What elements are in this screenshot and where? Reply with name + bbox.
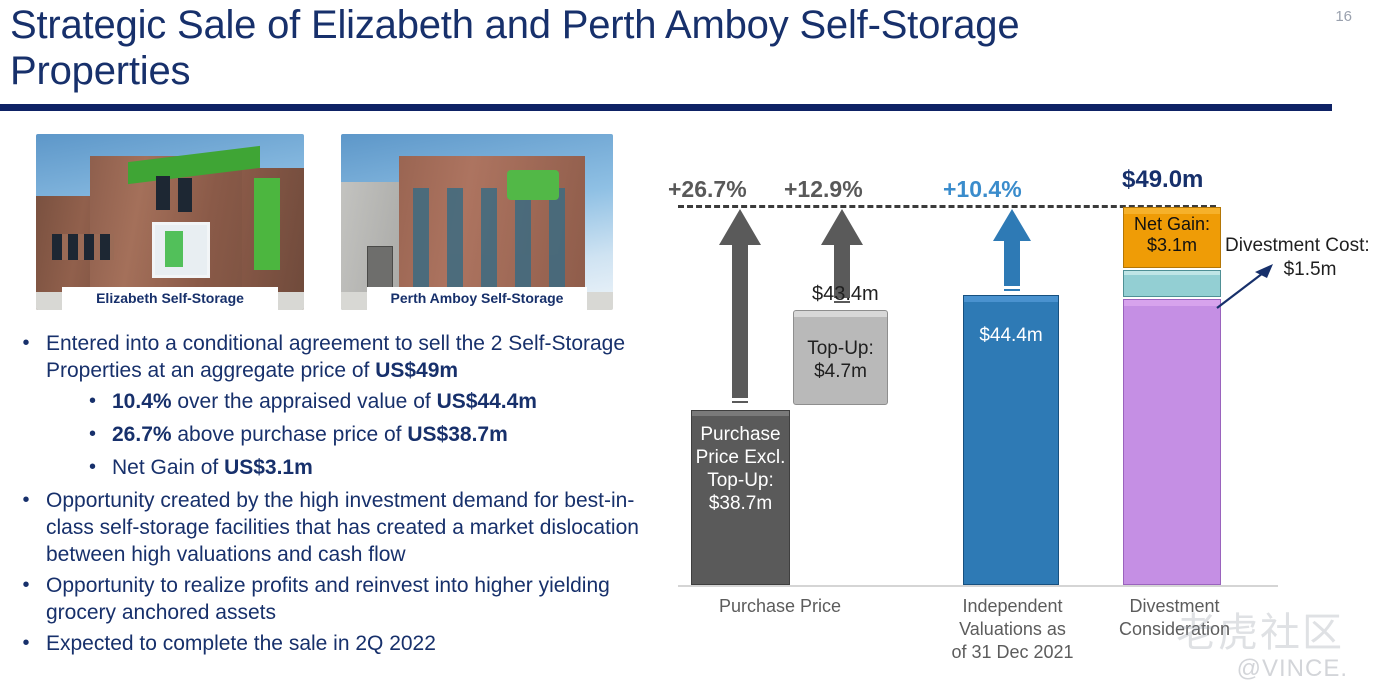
annotation-total-consideration: $49.0m: [1122, 166, 1203, 194]
window-pane: [165, 231, 183, 267]
annotation-pct-vs-valuation: +10.4%: [943, 176, 1022, 203]
stack-segment-divestment-cost: [1123, 270, 1221, 297]
callout-line-1: Divestment Cost:: [1225, 235, 1370, 256]
axis-category-purchase-price: Purchase Price: [670, 595, 890, 618]
list-item-text: Opportunity to realize profits and reinv…: [46, 572, 656, 626]
list-item-text: 10.4% over the appraised value of US$44.…: [112, 388, 537, 415]
bullet-dot-icon: •: [6, 454, 112, 481]
waterfall-bar-chart: +26.7% +12.9% +10.4% $49.0m Purchase Pri…: [660, 150, 1392, 698]
bullet-dot-icon: •: [6, 330, 46, 357]
photo-caption: Perth Amboy Self-Storage: [367, 287, 587, 310]
photo-perth-amboy-self-storage: Perth Amboy Self-Storage: [341, 134, 613, 310]
chart-baseline: [678, 585, 1278, 587]
extraspace-storage-side-sign: [254, 178, 280, 270]
bar-value-label: $44.4m: [964, 324, 1058, 347]
title-divider: [0, 104, 1332, 111]
list-item-text: 26.7% above purchase price of US$38.7m: [112, 421, 508, 448]
bar-top-up: Top-Up: $4.7m: [793, 310, 888, 405]
axis-category-divestment-consideration: Divestment Consideration: [1112, 595, 1237, 641]
bullet-dot-icon: •: [6, 421, 112, 448]
list-item-text: Expected to complete the sale in 2Q 2022: [46, 630, 436, 657]
list-item: • Net Gain of US$3.1m: [6, 454, 656, 481]
list-item-text: Net Gain of US$3.1m: [112, 454, 313, 481]
bullet-list: • Entered into a conditional agreement t…: [6, 330, 656, 661]
photo-elizabeth-self-storage: Elizabeth Self-Storage: [36, 134, 304, 310]
stack-segment-base-value: [1123, 299, 1221, 585]
list-item: • 26.7% above purchase price of US$38.7m: [6, 421, 656, 448]
bullet-dot-icon: •: [6, 630, 46, 657]
bar-value-label: Purchase Price Excl. Top-Up: $38.7m: [692, 423, 789, 515]
bullet-dot-icon: •: [6, 572, 46, 599]
bullet-dot-icon: •: [6, 388, 112, 415]
list-item-text: Opportunity created by the high investme…: [46, 487, 656, 568]
window-grid: [405, 188, 577, 300]
bar-value-label: Top-Up: $4.7m: [794, 337, 887, 383]
window: [178, 178, 192, 212]
label-topup-total: $43.4m: [812, 283, 879, 306]
up-arrow-icon: [718, 207, 762, 407]
up-arrow-icon: [990, 207, 1034, 295]
bar-independent-valuation: $44.4m: [963, 295, 1059, 585]
list-item: • Opportunity created by the high invest…: [6, 487, 656, 568]
window: [156, 176, 170, 210]
bay-window: [152, 222, 210, 278]
page-number: 16: [1335, 8, 1352, 25]
page-title: Strategic Sale of Elizabeth and Perth Am…: [10, 2, 1210, 94]
bullet-dot-icon: •: [6, 487, 46, 514]
axis-category-independent-valuations: Independent Valuations as of 31 Dec 2021: [950, 595, 1075, 664]
window-row: [52, 234, 114, 260]
annotation-pct-vs-purchase-incl-topup: +12.9%: [784, 176, 863, 203]
extraspace-storage-sign: [507, 170, 559, 200]
bar-purchase-price-excl-topup: Purchase Price Excl. Top-Up: $38.7m: [691, 410, 790, 585]
list-item: • Opportunity to realize profits and rei…: [6, 572, 656, 626]
annotation-pct-vs-purchase: +26.7%: [668, 176, 747, 203]
callout-line-2: $1.5m: [1225, 258, 1392, 282]
bar-value-label: Net Gain: $3.1m: [1124, 214, 1220, 256]
callout-divestment-cost: Divestment Cost: $1.5m: [1225, 234, 1392, 282]
stack-segment-net-gain: Net Gain: $3.1m: [1123, 207, 1221, 268]
list-item: • Entered into a conditional agreement t…: [6, 330, 656, 384]
list-item: • 10.4% over the appraised value of US$4…: [6, 388, 656, 415]
photo-caption: Elizabeth Self-Storage: [62, 287, 278, 310]
list-item: • Expected to complete the sale in 2Q 20…: [6, 630, 656, 657]
list-item-text: Entered into a conditional agreement to …: [46, 330, 656, 384]
